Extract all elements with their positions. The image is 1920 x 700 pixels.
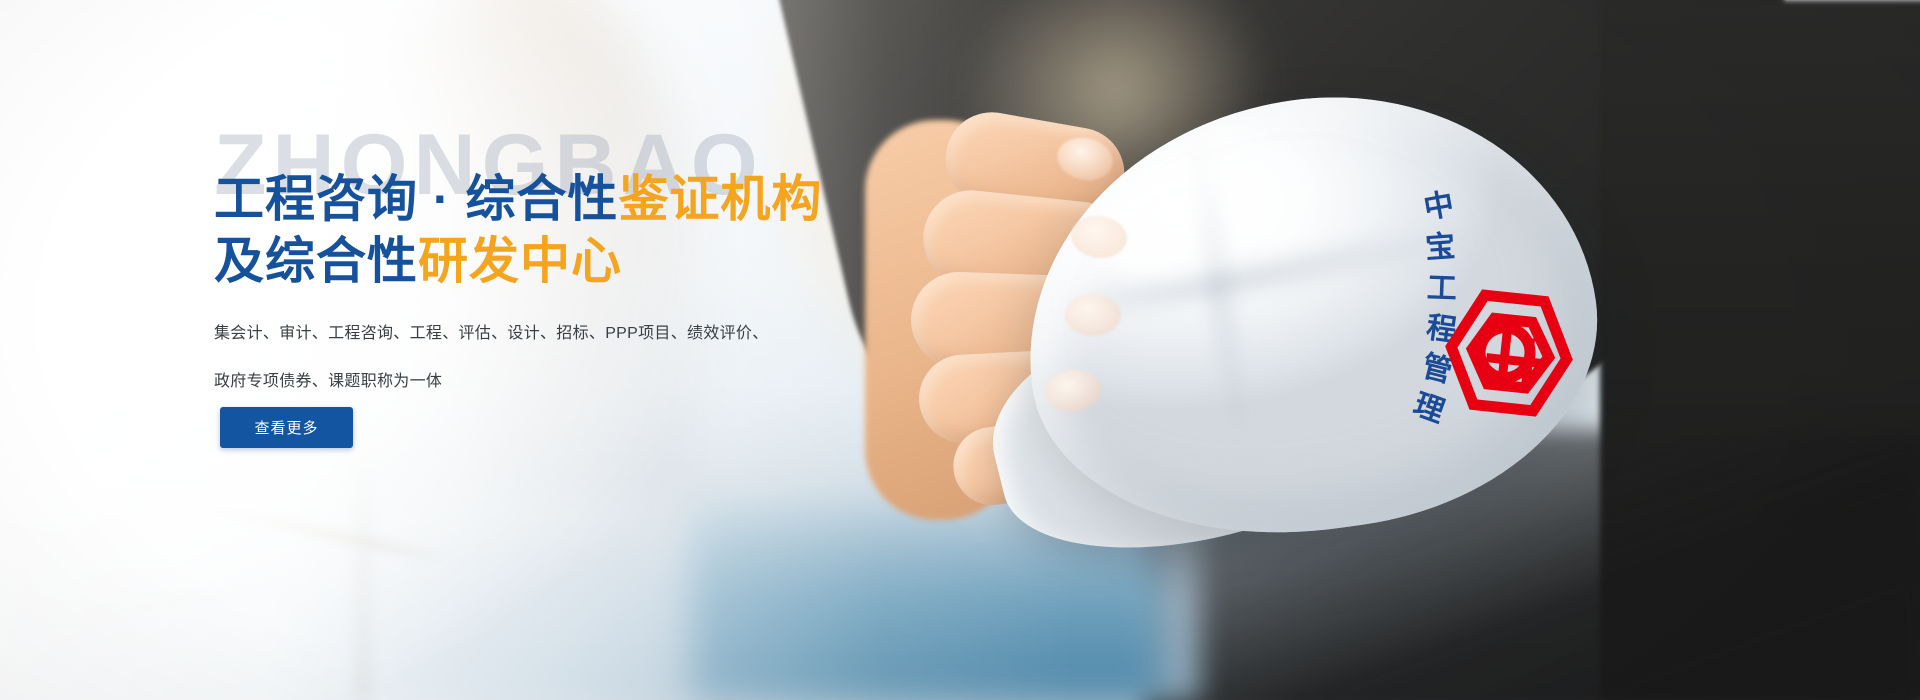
headline-line-2: 及综合性研发中心 — [214, 230, 974, 292]
headline: 工程咨询 · 综合性鉴证机构 及综合性研发中心 — [214, 168, 974, 292]
subtitle-line-2: 政府专项债券、课题职称为一体 — [214, 358, 834, 406]
headline-line-1-blue: 工程咨询 · 综合性 — [214, 171, 618, 227]
headline-line-1-orange: 鉴证机构 — [618, 171, 822, 227]
hero-banner: 中 宝 工 程 管 理 ZHONGBAO 工程咨询 · 综合性鉴证机构 及综合 — [0, 0, 1920, 700]
view-more-button[interactable]: 查看更多 — [220, 407, 353, 448]
subtitle-line-1: 集会计、审计、工程咨询、工程、评估、设计、招标、PPP项目、绩效评价、 — [214, 310, 834, 358]
headline-line-2-orange: 研发中心 — [418, 233, 622, 289]
headline-line-1: 工程咨询 · 综合性鉴证机构 — [214, 168, 974, 230]
headline-line-2-blue: 及综合性 — [214, 233, 418, 289]
banner-content: ZHONGBAO 工程咨询 · 综合性鉴证机构 及综合性研发中心 集会计、审计、… — [0, 0, 1920, 700]
subtitle: 集会计、审计、工程咨询、工程、评估、设计、招标、PPP项目、绩效评价、 政府专项… — [214, 310, 834, 406]
